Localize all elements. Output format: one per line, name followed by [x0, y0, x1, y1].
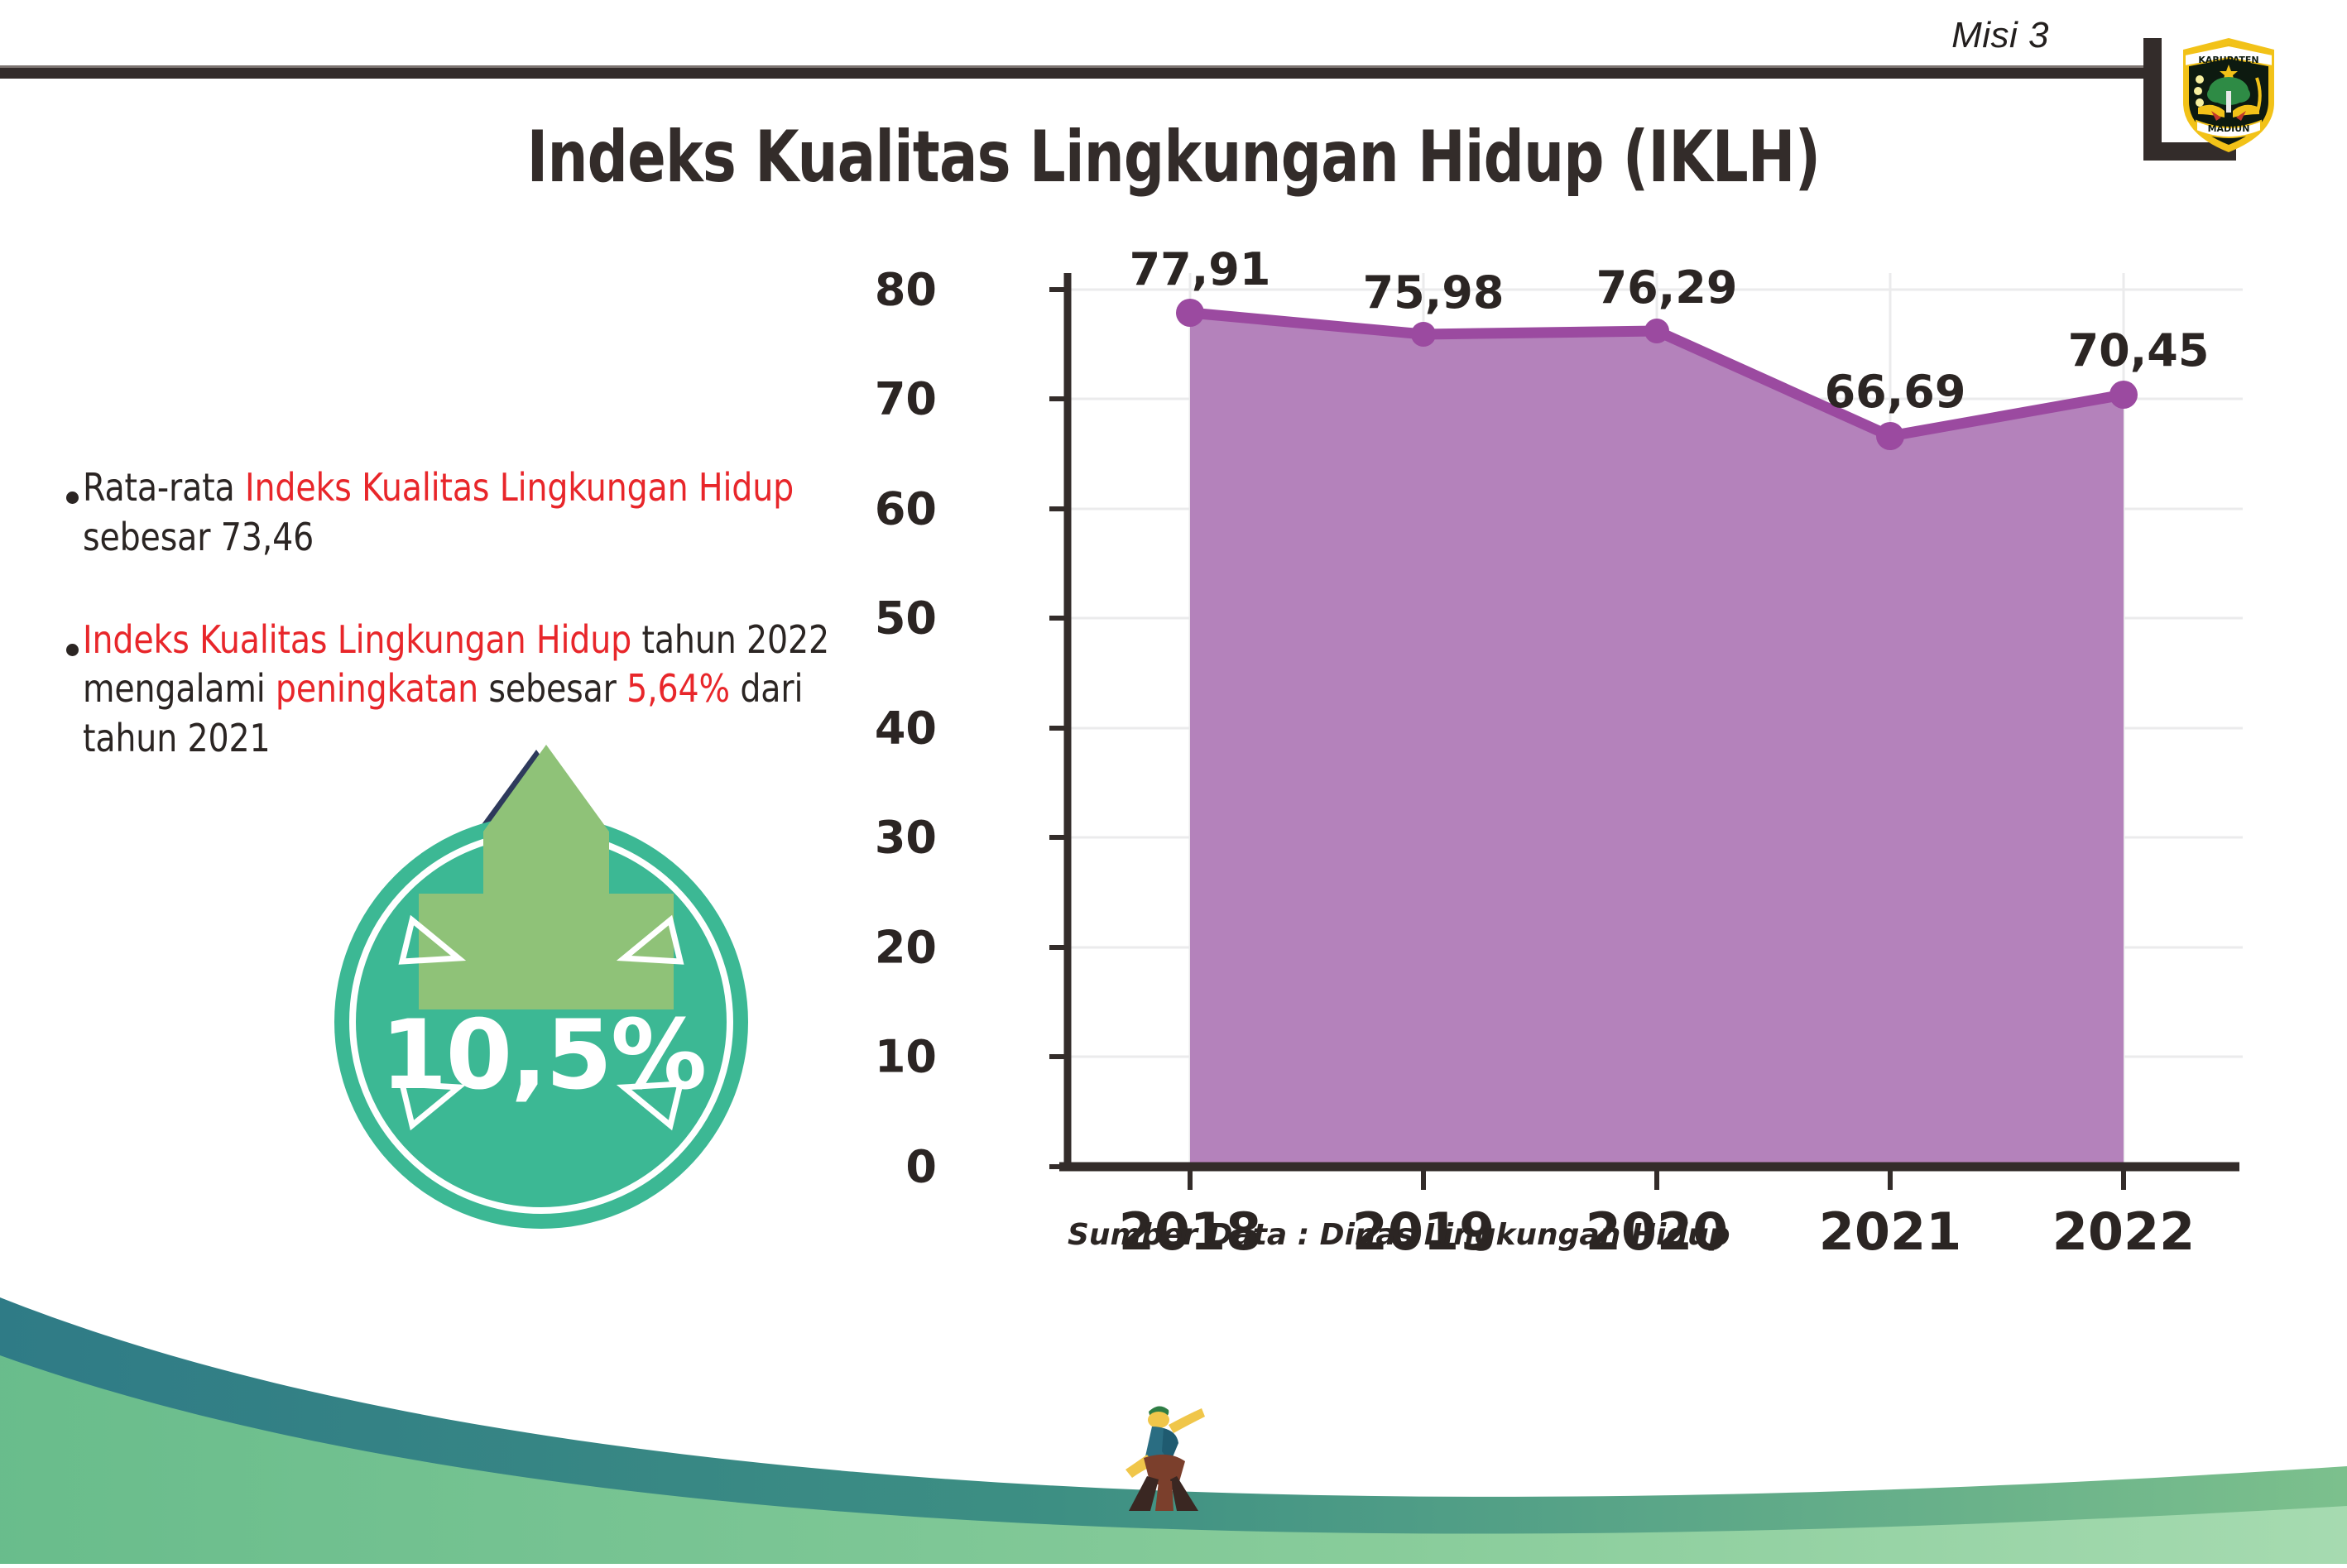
kabupaten-madiun-crest-icon: KABUPATEN MADIUN [2175, 31, 2282, 156]
chart-marker-2022 [2109, 381, 2138, 409]
page-title: Indeks Kualitas Lingkungan Hidup (IKLH) [235, 116, 2113, 199]
chart-marker-2019 [1411, 322, 1436, 347]
dancer-figure-icon [1122, 1398, 1220, 1514]
y-tick-label-0: 0 [829, 1141, 937, 1193]
bullet-text-1: Rata-rata Indeks Kualitas Lingkungan Hid… [83, 463, 866, 563]
chart-marker-2020 [1644, 319, 1669, 343]
chart-canvas [952, 273, 2292, 1266]
y-tick-label-80: 80 [829, 264, 937, 316]
svg-text:MADIUN: MADIUN [2208, 123, 2250, 134]
mission-label: Misi 3 [1951, 15, 2049, 56]
y-tick-label-40: 40 [829, 702, 937, 755]
bullet-2-seg-4: 5,64% [626, 666, 730, 711]
bullet-1-seg-1: Indeks Kualitas Lingkungan Hidup [245, 465, 794, 510]
data-label-2019: 75,98 [1309, 266, 1557, 319]
x-tick-label-2022: 2022 [2016, 1201, 2231, 1262]
svg-text:KABUPATEN: KABUPATEN [2198, 55, 2258, 65]
x-tick-label-2021: 2021 [1783, 1201, 1998, 1262]
bullet-dot-icon [66, 491, 79, 504]
footer: Media Infografis Data Statistik Sektoral… [0, 1291, 2347, 1564]
chart-marker-2018 [1176, 299, 1204, 327]
data-label-2022: 70,45 [2014, 324, 2263, 376]
bullet-1-seg-2: sebesar 73,46 [83, 515, 314, 559]
iklh-area-chart: 80 70 60 50 40 30 20 10 0 2018 2019 2020… [952, 273, 2292, 1266]
bullet-2-seg-0: Indeks Kualitas Lingkungan Hidup [83, 617, 631, 662]
source-note: Sumber Data : Dinas Lingkungan Hidup [1068, 1218, 1730, 1252]
bullet-1-seg-0: Rata-rata [83, 465, 245, 510]
data-label-2018: 77,91 [1076, 243, 1324, 295]
increase-badge: 10,5% [319, 736, 766, 1233]
footer-text: Media Infografis Data Statistik Sektoral… [1215, 1403, 2347, 1493]
chart-marker-2021 [1876, 422, 1904, 450]
data-label-2020: 76,29 [1543, 261, 1791, 314]
increase-badge-graphic [319, 736, 766, 1233]
chart-area-fill [1190, 313, 2124, 1167]
header-rule [0, 68, 2154, 79]
y-tick-label-70: 70 [829, 373, 937, 425]
bullet-2-seg-3: sebesar [478, 666, 626, 711]
bullet-dot-icon [66, 644, 79, 656]
y-tick-label-10: 10 [829, 1031, 937, 1083]
y-tick-label-20: 20 [829, 922, 937, 974]
bullet-2-seg-2: peningkatan [276, 666, 478, 711]
data-label-2021: 66,69 [1771, 366, 2019, 418]
y-tick-label-50: 50 [829, 592, 937, 645]
y-tick-label-30: 30 [829, 812, 937, 864]
y-tick-label-60: 60 [829, 483, 937, 535]
